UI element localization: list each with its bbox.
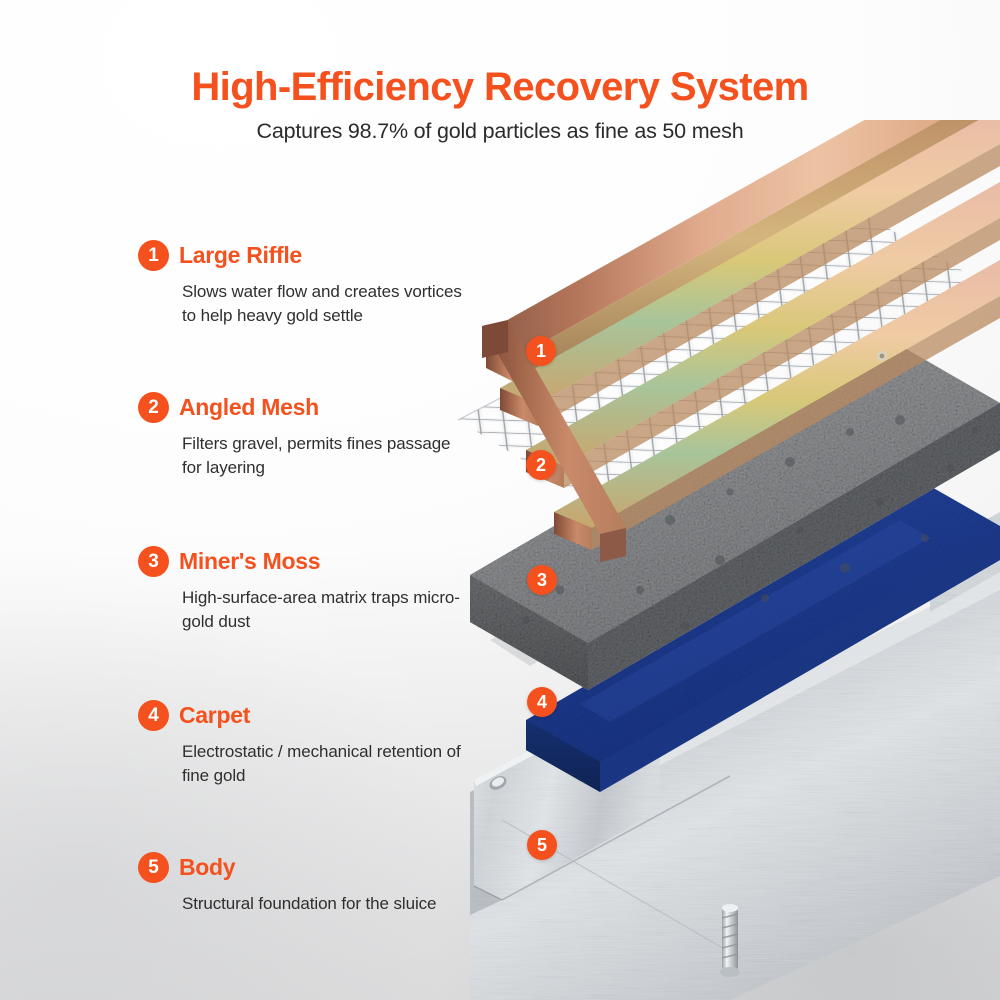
callout-heading: 2 Angled Mesh: [138, 392, 478, 423]
product-pin-1: 1: [526, 336, 556, 366]
callout-badge-3: 3: [138, 546, 169, 577]
callout-title-2: Angled Mesh: [179, 394, 319, 421]
callout-item-carpet: 4 Carpet Electrostatic / mechanical rete…: [138, 700, 478, 788]
product-exploded-view: [430, 120, 1000, 1000]
product-pin-2: 2: [526, 450, 556, 480]
callout-item-large-riffle: 1 Large Riffle Slows water flow and crea…: [138, 240, 478, 328]
page-title: High-Efficiency Recovery System: [0, 66, 1000, 109]
callout-title-5: Body: [179, 854, 235, 881]
callout-badge-1: 1: [138, 240, 169, 271]
callout-description-2: Filters gravel, permits fines passage fo…: [182, 432, 472, 480]
product-pin-5: 5: [527, 830, 557, 860]
callout-description-3: High-surface-area matrix traps micro-gol…: [182, 586, 472, 634]
callout-title-3: Miner's Moss: [179, 548, 320, 575]
callout-heading: 3 Miner's Moss: [138, 546, 478, 577]
callout-item-miners-moss: 3 Miner's Moss High-surface-area matrix …: [138, 546, 478, 634]
header: High-Efficiency Recovery System Captures…: [0, 66, 1000, 144]
product-pin-4: 4: [527, 687, 557, 717]
callout-description-1: Slows water flow and creates vortices to…: [182, 280, 472, 328]
callout-heading: 5 Body: [138, 852, 478, 883]
callout-title-4: Carpet: [179, 702, 250, 729]
callout-badge-5: 5: [138, 852, 169, 883]
screw: [720, 904, 740, 977]
callout-item-angled-mesh: 2 Angled Mesh Filters gravel, permits fi…: [138, 392, 478, 480]
callout-badge-2: 2: [138, 392, 169, 423]
page-subtitle: Captures 98.7% of gold particles as fine…: [0, 119, 1000, 144]
callout-heading: 1 Large Riffle: [138, 240, 478, 271]
callout-badge-4: 4: [138, 700, 169, 731]
callout-item-body: 5 Body Structural foundation for the slu…: [138, 852, 478, 916]
callout-description-4: Electrostatic / mechanical retention of …: [182, 740, 472, 788]
infographic-canvas: 1 2 3 4 5 High-Efficiency Recovery Syste…: [0, 0, 1000, 1000]
callout-description-5: Structural foundation for the sluice: [182, 892, 472, 916]
callout-title-1: Large Riffle: [179, 242, 302, 269]
product-pin-3: 3: [527, 565, 557, 595]
callout-heading: 4 Carpet: [138, 700, 478, 731]
